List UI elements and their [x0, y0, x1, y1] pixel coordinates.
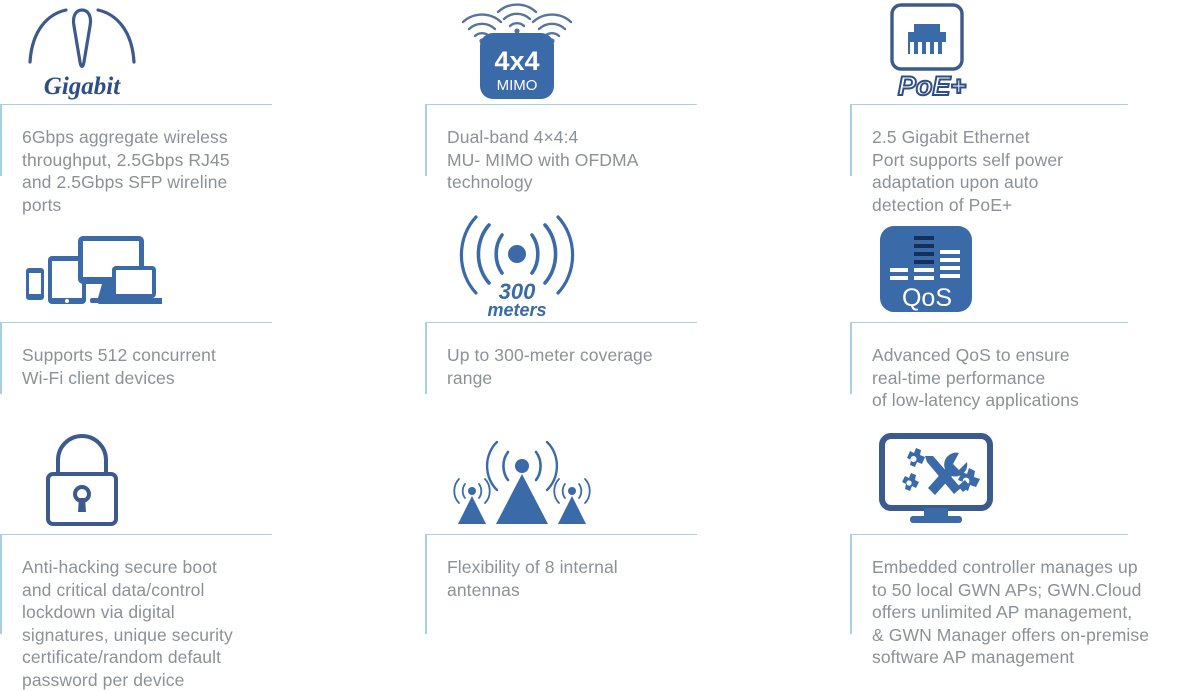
- accent-stub: [850, 104, 852, 176]
- accent-stub: [0, 104, 2, 176]
- padlock-icon: [22, 430, 142, 530]
- accent-stub: [0, 534, 2, 634]
- divider: [850, 104, 1128, 105]
- qos-icon: QoS: [872, 220, 982, 318]
- divider: [0, 322, 272, 323]
- feature-description: Anti-hacking secure boot and critical da…: [0, 535, 425, 691]
- accent-stub: [425, 104, 427, 176]
- feature-cell-security: Anti-hacking secure boot and critical da…: [0, 420, 425, 676]
- feature-description: Flexibility of 8 internal antennas: [425, 535, 850, 601]
- mimo-icon-area: 4x4 MIMO: [425, 0, 850, 100]
- feature-description: 2.5 Gigabit Ethernet Port supports self …: [850, 105, 1200, 216]
- feature-cell-antennas: Flexibility of 8 internal antennas: [425, 420, 850, 676]
- feature-description: Dual-band 4×4:4 MU- MIMO with OFDMA tech…: [425, 105, 850, 194]
- feature-description: Advanced QoS to ensure real-time perform…: [850, 323, 1200, 412]
- poe-icon-label: PoE+: [898, 71, 967, 100]
- feature-grid: Gigabit 6Gbps aggregate wireless through…: [0, 0, 1200, 676]
- qos-icon-area: QoS: [850, 210, 1200, 318]
- coverage-icon-area: 300 meters: [425, 210, 850, 318]
- feature-description: Embedded controller manages up to 50 loc…: [850, 535, 1200, 669]
- qos-icon-label: QoS: [902, 284, 952, 312]
- divider: [850, 322, 1128, 323]
- coverage-icon-sublabel: meters: [487, 300, 546, 318]
- divider: [850, 534, 1128, 535]
- accent-stub: [0, 322, 2, 394]
- gigabit-icon-label: Gigabit: [44, 73, 121, 100]
- feature-description: 6Gbps aggregate wireless throughput, 2.5…: [0, 105, 425, 216]
- mimo-icon-label: 4x4: [494, 46, 539, 76]
- poe-icon-area: PoE+: [850, 0, 1200, 100]
- feature-description: Up to 300-meter coverage range: [425, 323, 850, 389]
- feature-cell-gigabit: Gigabit 6Gbps aggregate wireless through…: [0, 0, 425, 210]
- poe-plus-icon: PoE+: [872, 0, 1002, 100]
- embedded-controller-icon-area: [850, 420, 1200, 530]
- mimo-icon-sublabel: MIMO: [497, 77, 538, 94]
- feature-cell-qos: QoS Advanced QoS to ensure real-time per…: [850, 210, 1200, 420]
- feature-cell-mimo: 4x4 MIMO Dual-band 4×4:4 MU- MIMO with O…: [425, 0, 850, 210]
- divider: [0, 534, 272, 535]
- accent-stub: [425, 322, 427, 394]
- accent-stub: [425, 534, 427, 634]
- divider: [425, 534, 697, 535]
- embedded-controller-icon: [872, 430, 1002, 530]
- coverage-range-icon: 300 meters: [447, 213, 587, 318]
- divider: [0, 104, 272, 105]
- four-by-four-mimo-icon: 4x4 MIMO: [447, 0, 587, 100]
- gigabit-icon-area: Gigabit: [0, 0, 425, 100]
- feature-cell-controller: Embedded controller manages up to 50 loc…: [850, 420, 1200, 676]
- multi-device-icon-area: [0, 210, 425, 318]
- feature-description: Supports 512 concurrent Wi-Fi client dev…: [0, 323, 425, 389]
- feature-cell-coverage: 300 meters Up to 300-meter coverage rang…: [425, 210, 850, 420]
- padlock-icon-area: [0, 420, 425, 530]
- divider: [425, 322, 697, 323]
- feature-cell-poe: PoE+ 2.5 Gigabit Ethernet Port supports …: [850, 0, 1200, 210]
- feature-cell-clients: Supports 512 concurrent Wi-Fi client dev…: [0, 210, 425, 420]
- accent-stub: [850, 534, 852, 634]
- divider: [425, 104, 697, 105]
- antennas-icon: [447, 430, 597, 530]
- antennas-icon-area: [425, 420, 850, 530]
- gigabit-icon: Gigabit: [22, 2, 142, 100]
- multi-device-icon: [22, 230, 162, 318]
- accent-stub: [850, 322, 852, 394]
